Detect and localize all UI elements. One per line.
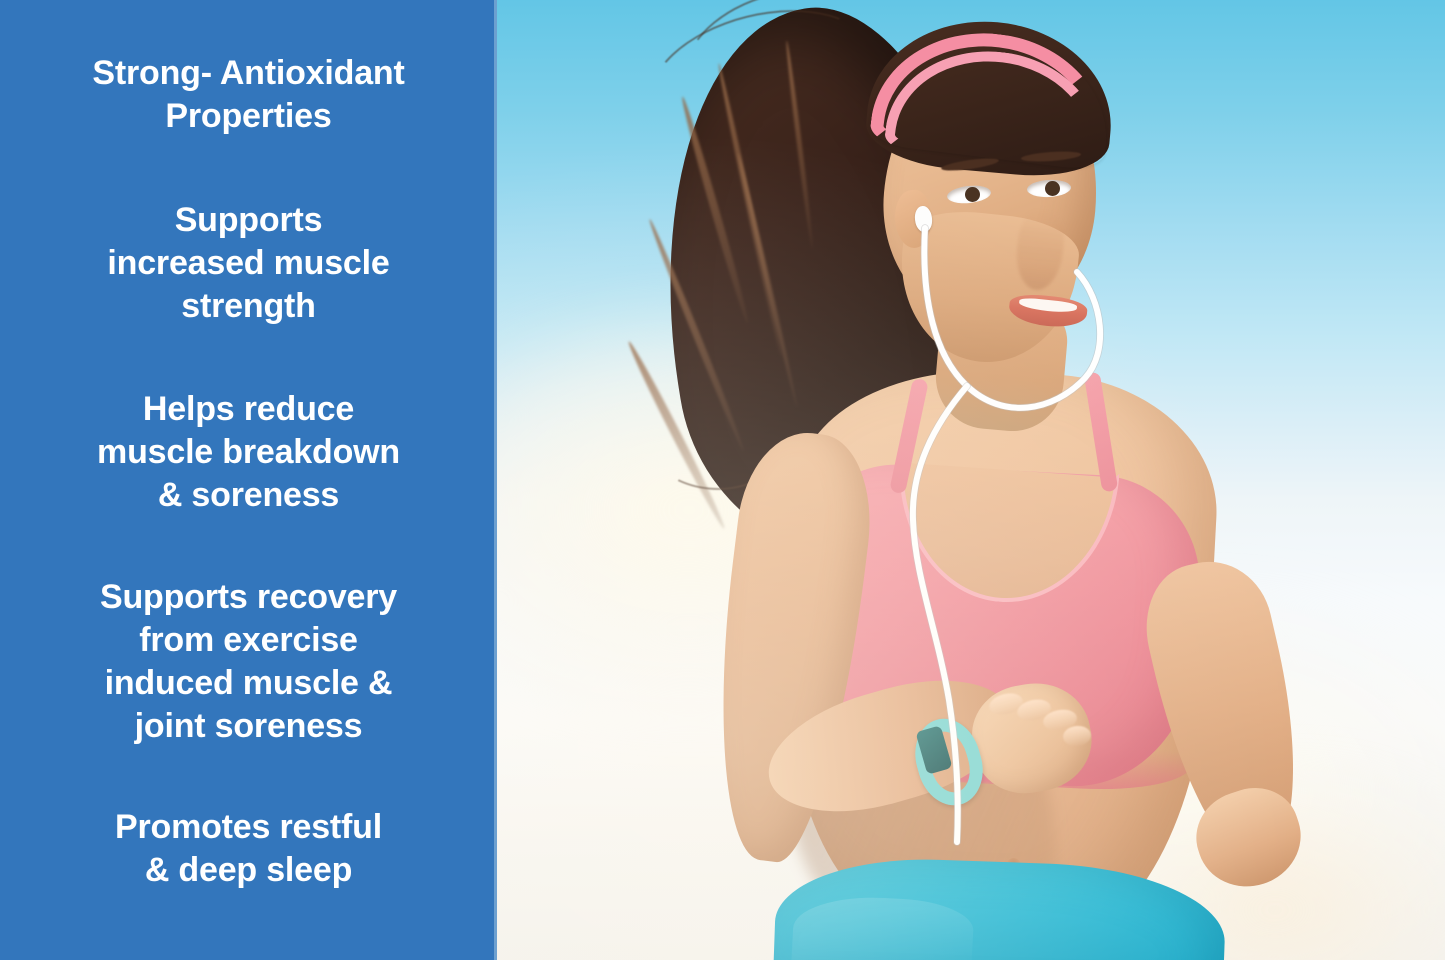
benefit-line: Supports	[34, 199, 463, 242]
benefit-line: induced muscle &	[34, 662, 463, 705]
earphone-cable	[497, 0, 1445, 960]
benefit-item-exercise-recovery: Supports recovery from exercise induced …	[0, 576, 497, 748]
benefit-item-muscle-strength: Supports increased muscle strength	[0, 199, 497, 328]
benefit-line: joint soreness	[34, 705, 463, 748]
benefit-line: Supports recovery	[34, 576, 463, 619]
benefit-item-antioxidant: Strong- Antioxidant Properties	[0, 52, 497, 138]
runner-figure	[497, 0, 1445, 960]
benefit-line: Properties	[34, 95, 463, 138]
benefits-panel: Strong- Antioxidant Properties Supports …	[0, 0, 497, 960]
benefit-line: & soreness	[34, 474, 463, 517]
benefit-line: Promotes restful	[34, 806, 463, 849]
benefit-item-restful-sleep: Promotes restful & deep sleep	[0, 806, 497, 892]
benefit-line: Strong- Antioxidant	[34, 52, 463, 95]
benefit-line: strength	[34, 285, 463, 328]
benefit-line: increased muscle	[34, 242, 463, 285]
benefits-banner: Strong- Antioxidant Properties Supports …	[0, 0, 1445, 960]
runner-photo	[497, 0, 1445, 960]
benefit-line: & deep sleep	[34, 849, 463, 892]
benefit-line: from exercise	[34, 619, 463, 662]
benefit-line: muscle breakdown	[34, 431, 463, 474]
benefit-line: Helps reduce	[34, 388, 463, 431]
benefit-item-muscle-breakdown: Helps reduce muscle breakdown & soreness	[0, 388, 497, 517]
